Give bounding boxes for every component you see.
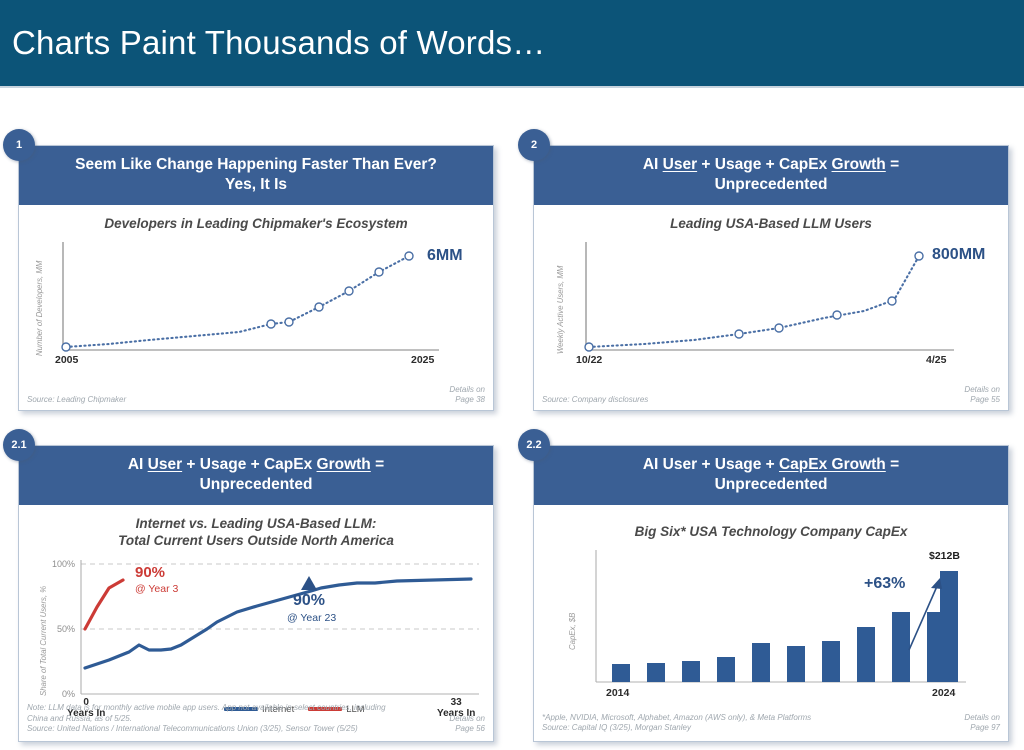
panel-badge-2-1: 2.1 — [3, 429, 35, 461]
panel-2-1-details-line2: Page 56 — [455, 724, 485, 733]
panel-2-1-title-p4: = — [371, 456, 384, 473]
panel-1-details: Details on Page 38 — [449, 385, 485, 406]
panel-2-1-title-p5: Unprecedented — [200, 476, 313, 493]
panel-2-2-footer: *Apple, NVIDIA, Microsoft, Alphabet, Ama… — [534, 713, 1008, 738]
panel-1-subtitle: Developers in Leading Chipmaker's Ecosys… — [19, 205, 493, 235]
panel-2-title-p4: = — [886, 156, 899, 173]
panel-1-xtick-start: 2005 — [55, 354, 78, 366]
panel-2-xtick-start: 10/22 — [576, 354, 602, 366]
panel-2-1-llm-annotation-value: 90% — [135, 564, 165, 581]
panel-2-1-title-p1: User — [148, 456, 182, 473]
panel-1[interactable]: 1 Seem Like Change Happening Faster Than… — [18, 145, 494, 411]
panel-2-2-growth-annotation: +63% — [864, 575, 905, 593]
panel-2-annotation-value: 800MM — [932, 246, 985, 264]
panel-2-2-plot-svg — [534, 542, 1010, 707]
panel-2-2-details: Details on Page 97 — [964, 713, 1000, 734]
panel-2-1-title-p3: Growth — [317, 456, 371, 473]
panel-1-xtick-end: 2025 — [411, 354, 434, 366]
panel-badge-1: 1 — [3, 129, 35, 161]
panel-2-details-line1: Details on — [964, 385, 1000, 394]
panel-2-title-p5: Unprecedented — [715, 176, 828, 193]
panel-2-2-chart: CapEx, $B — [534, 542, 1008, 707]
panel-2-footer: Source: Company disclosures Details on P… — [534, 385, 1008, 410]
page-title: Charts Paint Thousands of Words… — [0, 24, 545, 62]
panel-2-1-plot-svg — [19, 552, 495, 702]
panel-2-2-details-line1: Details on — [964, 713, 1000, 722]
panel-2-1-llm-annotation-sub: @ Year 3 — [135, 583, 178, 595]
panel-2-1-internet-annotation-sub: @ Year 23 — [287, 612, 336, 624]
panel-2-title-p3: Growth — [832, 156, 886, 173]
panel-2-2-source: Source: Capital IQ (3/25), Morgan Stanle… — [542, 723, 691, 732]
panel-2-title-p2: + Usage + CapEx — [697, 156, 831, 173]
panel-2-2-details-line2: Page 97 — [970, 723, 1000, 732]
panel-2-1-subtitle: Internet vs. Leading USA-Based LLM: Tota… — [19, 505, 493, 552]
panel-2-2-title-p1: CapEx Growth — [779, 456, 886, 473]
panel-2-1-subtitle-line2: Total Current Users Outside North Americ… — [118, 533, 394, 548]
page-header-bar: Charts Paint Thousands of Words… — [0, 0, 1024, 86]
panel-2-1-details: Details on Page 56 — [449, 714, 485, 735]
panel-2-2[interactable]: 2.2 AI User + Usage + CapEx Growth = Unp… — [533, 445, 1009, 742]
panel-2-1-source: Source: United Nations / International T… — [27, 724, 358, 733]
panel-2-title-p1: User — [663, 156, 697, 173]
bar-series — [612, 612, 945, 682]
panel-grid: 1 Seem Like Change Happening Faster Than… — [0, 90, 1024, 750]
panel-2-1-header: AI User + Usage + CapEx Growth = Unprece… — [19, 446, 493, 505]
panel-2-2-title-p2: = — [886, 456, 899, 473]
panel-2[interactable]: 2 AI User + Usage + CapEx Growth = Unpre… — [533, 145, 1009, 411]
panel-1-details-line2: Page 38 — [455, 395, 485, 404]
panel-2-1-note-line1: Note: LLM data is for monthly active mob… — [27, 703, 386, 712]
panel-2-1-subtitle-line1: Internet vs. Leading USA-Based LLM: — [136, 516, 377, 531]
panel-2-source: Source: Company disclosures — [542, 395, 648, 406]
panel-2-1[interactable]: 2.1 AI User + Usage + CapEx Growth = Unp… — [18, 445, 494, 742]
panel-2-1-ytick-100: 100% — [47, 559, 75, 569]
panel-2-2-y-axis-label: CapEx, $B — [568, 613, 577, 650]
panel-1-source: Source: Leading Chipmaker — [27, 395, 126, 406]
panel-badge-2: 2 — [518, 129, 550, 161]
panel-1-chart: Number of Developers, MM 6MM 2005 2025 — [19, 234, 493, 384]
panel-2-2-header: AI User + Usage + CapEx Growth = Unprece… — [534, 446, 1008, 505]
panel-2-xtick-end: 4/25 — [926, 354, 946, 366]
panel-2-details: Details on Page 55 — [964, 385, 1000, 406]
panel-2-1-note-line2: China and Russia, as of 5/25. — [27, 714, 132, 723]
panel-2-2-xtick-end: 2024 — [932, 687, 955, 699]
panel-2-y-axis-label: Weekly Active Users, MM — [556, 266, 565, 354]
panel-badge-2-2: 2.2 — [518, 429, 550, 461]
panel-2-1-details-line1: Details on — [449, 714, 485, 723]
panel-2-1-title-p0: AI — [128, 456, 148, 473]
panel-2-1-notes: Note: LLM data is for monthly active mob… — [27, 703, 386, 735]
panel-2-1-ytick-50: 50% — [47, 624, 75, 634]
panel-2-2-xtick-start: 2014 — [606, 687, 629, 699]
panel-2-2-footnote: *Apple, NVIDIA, Microsoft, Alphabet, Ama… — [542, 713, 811, 722]
panel-2-2-notes: *Apple, NVIDIA, Microsoft, Alphabet, Ama… — [542, 713, 811, 734]
panel-2-header: AI User + Usage + CapEx Growth = Unprece… — [534, 146, 1008, 205]
panel-1-details-line1: Details on — [449, 385, 485, 394]
panel-2-1-internet-annotation-value: 90% — [293, 592, 325, 610]
panel-1-title-line1: Seem Like Change Happening Faster Than E… — [75, 156, 437, 173]
panel-2-chart: Weekly Active Users, MM 800MM 10/22 4/25 — [534, 234, 1008, 384]
panel-1-header: Seem Like Change Happening Faster Than E… — [19, 146, 493, 205]
panel-2-2-title-p3: Unprecedented — [715, 476, 828, 493]
panel-2-2-title-p0: AI User + Usage + — [643, 456, 779, 473]
panel-2-title-p0: AI — [643, 156, 663, 173]
panel-1-footer: Source: Leading Chipmaker Details on Pag… — [19, 385, 493, 410]
panel-1-title-line2: Yes, It Is — [225, 176, 287, 193]
panel-2-2-top-value-label: $212B — [929, 550, 960, 562]
panel-2-1-y-axis-label: Share of Total Current Users, % — [39, 586, 48, 696]
panel-2-details-line2: Page 55 — [970, 395, 1000, 404]
panel-1-annotation-value: 6MM — [427, 247, 463, 265]
panel-2-2-subtitle: Big Six* USA Technology Company CapEx — [534, 505, 1008, 543]
panel-2-subtitle: Leading USA-Based LLM Users — [534, 205, 1008, 235]
panel-1-y-axis-label: Number of Developers, MM — [35, 261, 44, 356]
panel-2-1-footer: Note: LLM data is for monthly active mob… — [19, 703, 493, 739]
panel-2-1-title-p2: + Usage + CapEx — [182, 456, 316, 473]
header-divider — [0, 86, 1024, 88]
panel-2-1-chart: Share of Total Current Users, % 100% 50%… — [19, 552, 493, 702]
